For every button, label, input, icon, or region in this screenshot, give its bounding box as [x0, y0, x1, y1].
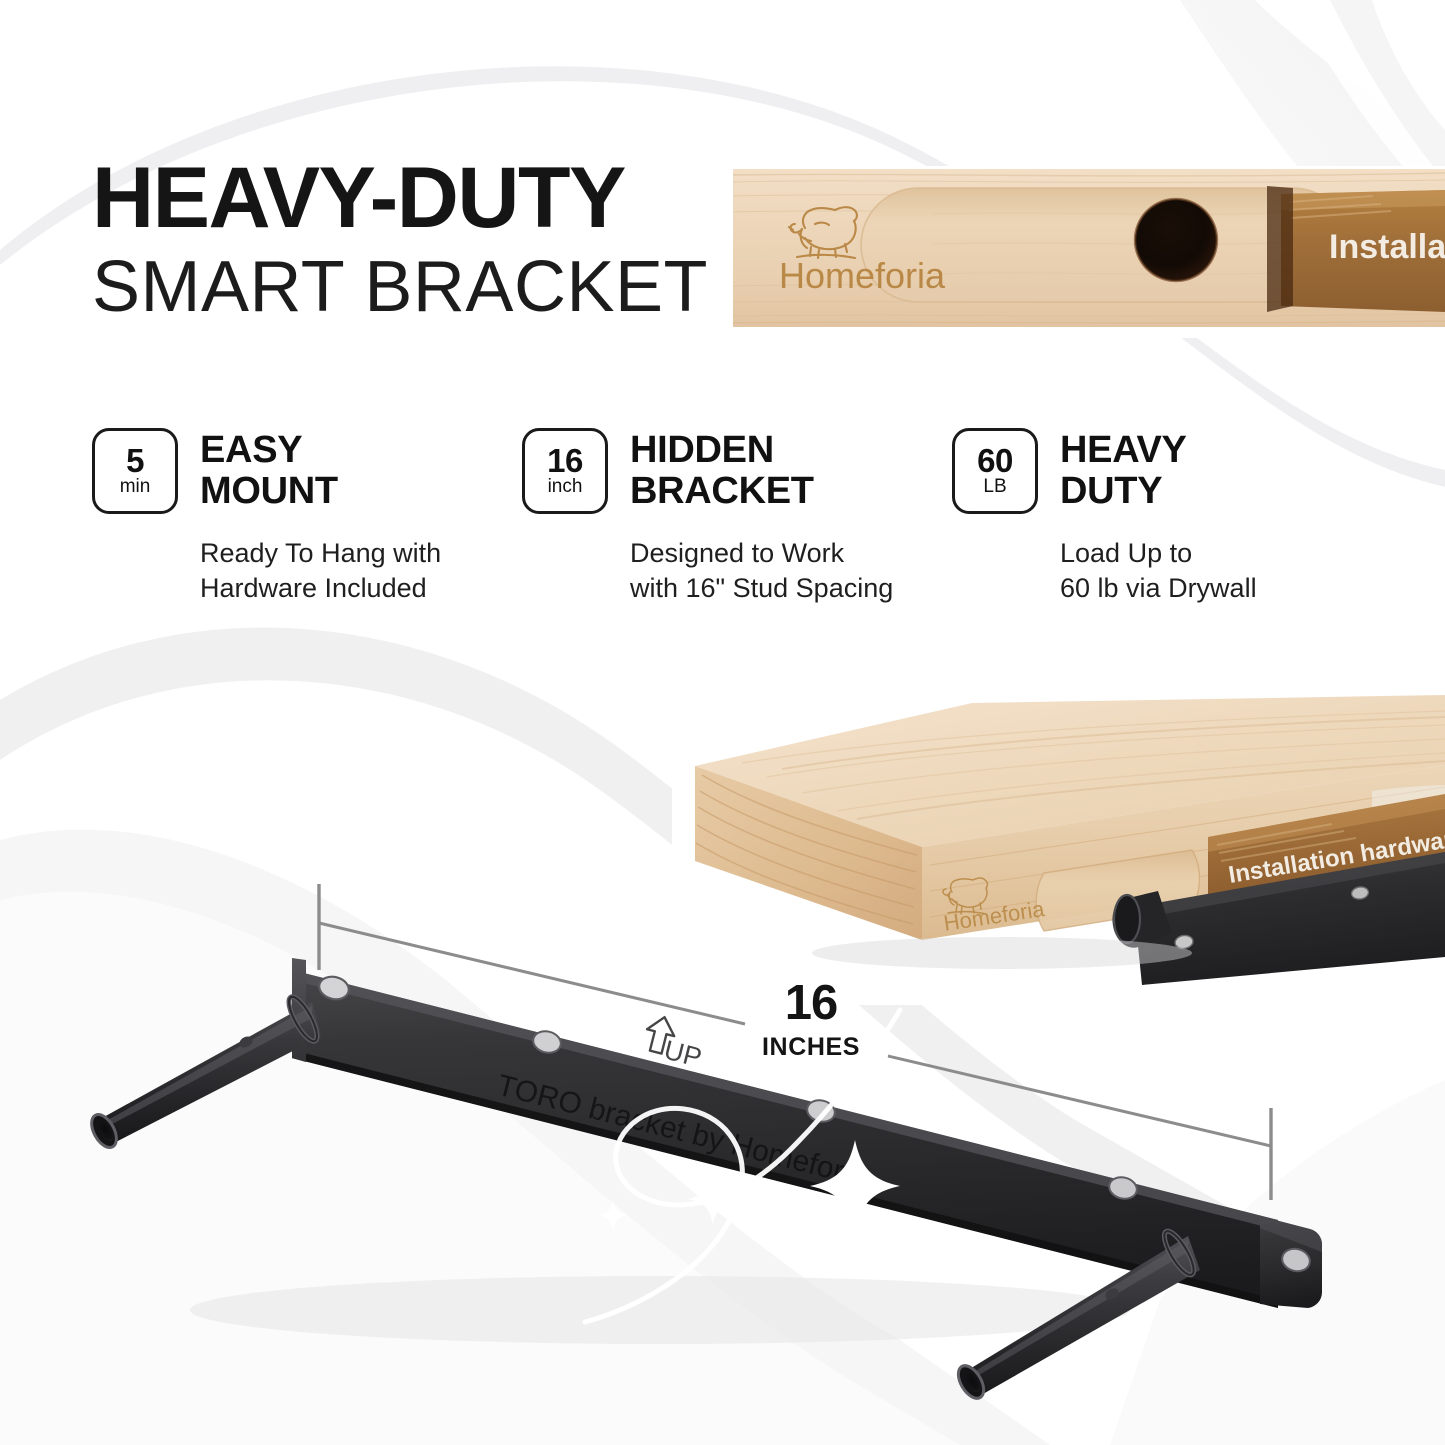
feature-title-line-2: BRACKET: [630, 471, 814, 512]
feature-list: 5 min EASY MOUNT Ready To Hang with Hard…: [92, 428, 1382, 606]
feature-item-hidden-bracket: 16 inch HIDDEN BRACKET Designed to Work …: [522, 428, 952, 606]
feature-desc-line-1: Ready To Hang with: [200, 536, 522, 571]
feature-description: Ready To Hang with Hardware Included: [200, 536, 522, 606]
headline-line-1: HEAVY-DUTY: [92, 155, 708, 241]
feature-desc-line-2: Hardware Included: [200, 571, 522, 606]
badge-number: 60: [977, 445, 1013, 476]
shelf-closeup-photo: Installa Homeforia: [733, 166, 1445, 338]
feature-title-line-2: DUTY: [1060, 471, 1187, 512]
feature-item-heavy-duty: 60 LB HEAVY DUTY Load Up to 60 lb via Dr…: [952, 428, 1382, 606]
badge-unit: inch: [548, 477, 583, 497]
5-min-badge: 5 min: [92, 428, 178, 514]
feature-item-easy-mount: 5 min EASY MOUNT Ready To Hang with Hard…: [92, 428, 522, 606]
60-lb-badge: 60 LB: [952, 428, 1038, 514]
badge-number: 16: [547, 445, 583, 476]
badge-number: 5: [126, 445, 144, 476]
feature-title-line-1: EASY: [200, 430, 338, 471]
bracket-rod-left: [87, 993, 323, 1151]
installation-box-text-top: Installa: [1329, 228, 1445, 266]
feature-title: HEAVY DUTY: [1060, 428, 1187, 512]
feature-title-line-1: HIDDEN: [630, 430, 814, 471]
feature-title: HIDDEN BRACKET: [630, 428, 814, 512]
feature-desc-line-2: with 16" Stud Spacing: [630, 571, 952, 606]
feature-desc-line-1: Load Up to: [1060, 536, 1382, 571]
page-title: HEAVY-DUTY SMART BRACKET: [92, 155, 708, 323]
feature-title: EASY MOUNT: [200, 428, 338, 512]
brand-text-top: Homeforia: [779, 255, 946, 296]
feature-desc-line-2: 60 lb via Drywall: [1060, 571, 1382, 606]
bracket-product-photo: TORO bracket by Homeforia UP: [60, 930, 1350, 1430]
badge-unit: LB: [983, 477, 1006, 497]
16-inch-badge: 16 inch: [522, 428, 608, 514]
feature-title-line-2: MOUNT: [200, 471, 338, 512]
product-infographic: HEAVY-DUTY SMART BRACKET: [0, 0, 1445, 1445]
badge-unit: min: [120, 477, 151, 497]
feature-desc-line-1: Designed to Work: [630, 536, 952, 571]
feature-description: Designed to Work with 16" Stud Spacing: [630, 536, 952, 606]
feature-description: Load Up to 60 lb via Drywall: [1060, 536, 1382, 606]
feature-title-line-1: HEAVY: [1060, 430, 1187, 471]
headline-line-2: SMART BRACKET: [92, 251, 708, 323]
